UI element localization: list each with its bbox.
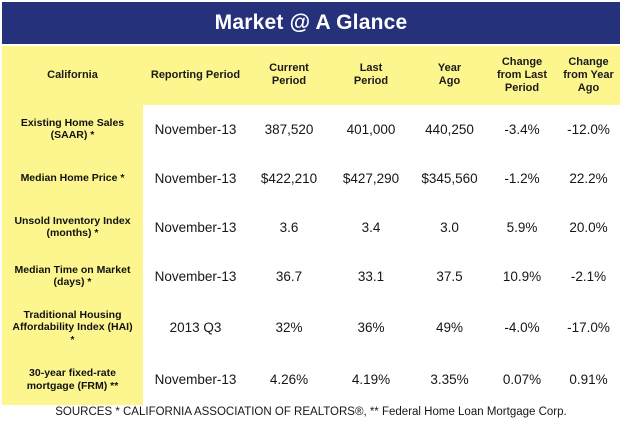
- column-header-change-year-line1: Change: [568, 56, 608, 68]
- cell-current-period: 4.26%: [248, 355, 330, 405]
- cell-change-from-year-ago: -12.0%: [557, 105, 620, 154]
- cell-reporting-period: November-13: [143, 203, 248, 252]
- column-header-change-last-line3: Period: [505, 82, 539, 94]
- cell-reporting-period: November-13: [143, 252, 248, 301]
- cell-year-ago: $345,560: [412, 154, 487, 203]
- cell-change-from-year-ago: -2.1%: [557, 252, 620, 301]
- row-label-line1: Median Time on Market: [15, 264, 131, 276]
- page-title: Market @ A Glance: [215, 11, 408, 35]
- column-header-california: California: [2, 46, 143, 105]
- column-header-year-ago-line2: Ago: [439, 75, 460, 87]
- column-header-current-period-line2: Period: [272, 75, 306, 87]
- cell-change-from-last-period: 0.07%: [487, 355, 557, 405]
- cell-last-period: $427,290: [330, 154, 412, 203]
- column-header-change-year-line3: Ago: [578, 82, 599, 94]
- cell-year-ago: 440,250: [412, 105, 487, 154]
- row-label-line2: mortgage (FRM) **: [27, 380, 119, 392]
- cell-year-ago: 3.0: [412, 203, 487, 252]
- table-row: Traditional Housing Affordability Index …: [2, 301, 620, 355]
- cell-reporting-period: 2013 Q3: [143, 301, 248, 355]
- title-banner: Market @ A Glance: [2, 2, 620, 44]
- column-header-change-last-line1: Change: [502, 56, 542, 68]
- column-header-year-ago: Year Ago: [412, 46, 487, 105]
- cell-current-period: 32%: [248, 301, 330, 355]
- row-label-existing-home-sales: Existing Home Sales (SAAR) *: [2, 105, 143, 154]
- row-label-line1: Median Home Price *: [21, 172, 125, 184]
- cell-change-from-year-ago: 22.2%: [557, 154, 620, 203]
- column-header-current-period-line1: Current: [269, 62, 309, 74]
- cell-year-ago: 49%: [412, 301, 487, 355]
- row-label-line3: *: [71, 335, 75, 346]
- market-summary-table: California Reporting Period Current Peri…: [2, 46, 620, 405]
- cell-last-period: 4.19%: [330, 355, 412, 405]
- row-label-line1: 30-year fixed-rate: [29, 367, 116, 379]
- cell-change-from-year-ago: 0.91%: [557, 355, 620, 405]
- cell-current-period: 3.6: [248, 203, 330, 252]
- row-label-line1: Traditional Housing: [23, 309, 121, 321]
- cell-last-period: 401,000: [330, 105, 412, 154]
- table-row: Unsold Inventory Index (months) * Novemb…: [2, 203, 620, 252]
- column-header-last-period-line1: Last: [360, 62, 383, 74]
- column-header-last-period: Last Period: [330, 46, 412, 105]
- table-row: Median Time on Market (days) * November-…: [2, 252, 620, 301]
- column-header-current-period: Current Period: [248, 46, 330, 105]
- cell-reporting-period: November-13: [143, 154, 248, 203]
- cell-reporting-period: November-13: [143, 105, 248, 154]
- cell-last-period: 33.1: [330, 252, 412, 301]
- column-header-change-from-year-ago: Change from Year Ago: [557, 46, 620, 105]
- cell-last-period: 36%: [330, 301, 412, 355]
- cell-last-period: 3.4: [330, 203, 412, 252]
- table-header: California Reporting Period Current Peri…: [2, 46, 620, 105]
- row-label-line2: Affordability Index (HAI): [12, 321, 132, 333]
- row-label-line2: (days) *: [54, 276, 92, 288]
- row-label-traditional-housing-affordability-index: Traditional Housing Affordability Index …: [2, 301, 143, 355]
- cell-current-period: 387,520: [248, 105, 330, 154]
- table-row: 30-year fixed-rate mortgage (FRM) ** Nov…: [2, 355, 620, 405]
- column-header-change-year-line2: from Year: [563, 69, 614, 81]
- table-row: Median Home Price * November-13 $422,210…: [2, 154, 620, 203]
- row-label-line1: Unsold Inventory Index: [14, 215, 130, 227]
- row-label-median-time-on-market: Median Time on Market (days) *: [2, 252, 143, 301]
- row-label-30-year-fixed-rate-mortgage: 30-year fixed-rate mortgage (FRM) **: [2, 355, 143, 405]
- row-label-unsold-inventory-index: Unsold Inventory Index (months) *: [2, 203, 143, 252]
- cell-change-from-last-period: 10.9%: [487, 252, 557, 301]
- cell-change-from-last-period: -4.0%: [487, 301, 557, 355]
- column-header-change-from-last-period: Change from Last Period: [487, 46, 557, 105]
- cell-year-ago: 3.35%: [412, 355, 487, 405]
- cell-change-from-last-period: -1.2%: [487, 154, 557, 203]
- table-row: Existing Home Sales (SAAR) * November-13…: [2, 105, 620, 154]
- row-label-line1: Existing Home Sales: [21, 117, 124, 129]
- cell-current-period: 36.7: [248, 252, 330, 301]
- column-header-year-ago-line1: Year: [438, 62, 461, 74]
- column-header-last-period-line2: Period: [354, 75, 388, 87]
- cell-change-from-last-period: 5.9%: [487, 203, 557, 252]
- cell-year-ago: 37.5: [412, 252, 487, 301]
- table-header-row: California Reporting Period Current Peri…: [2, 46, 620, 105]
- row-label-line2: (months) *: [47, 227, 99, 239]
- cell-change-from-year-ago: -17.0%: [557, 301, 620, 355]
- cell-change-from-year-ago: 20.0%: [557, 203, 620, 252]
- sources-footnote: SOURCES * CALIFORNIA ASSOCIATION OF REAL…: [2, 400, 620, 418]
- cell-current-period: $422,210: [248, 154, 330, 203]
- market-summary-table-container: California Reporting Period Current Peri…: [2, 46, 620, 405]
- row-label-median-home-price: Median Home Price *: [2, 154, 143, 203]
- market-at-a-glance-sheet: Market @ A Glance California Reporting P…: [0, 0, 626, 442]
- cell-reporting-period: November-13: [143, 355, 248, 405]
- table-body: Existing Home Sales (SAAR) * November-13…: [2, 105, 620, 405]
- cell-change-from-last-period: -3.4%: [487, 105, 557, 154]
- row-label-line2: (SAAR) *: [51, 129, 95, 141]
- column-header-reporting-period: Reporting Period: [143, 46, 248, 105]
- column-header-change-last-line2: from Last: [497, 69, 547, 81]
